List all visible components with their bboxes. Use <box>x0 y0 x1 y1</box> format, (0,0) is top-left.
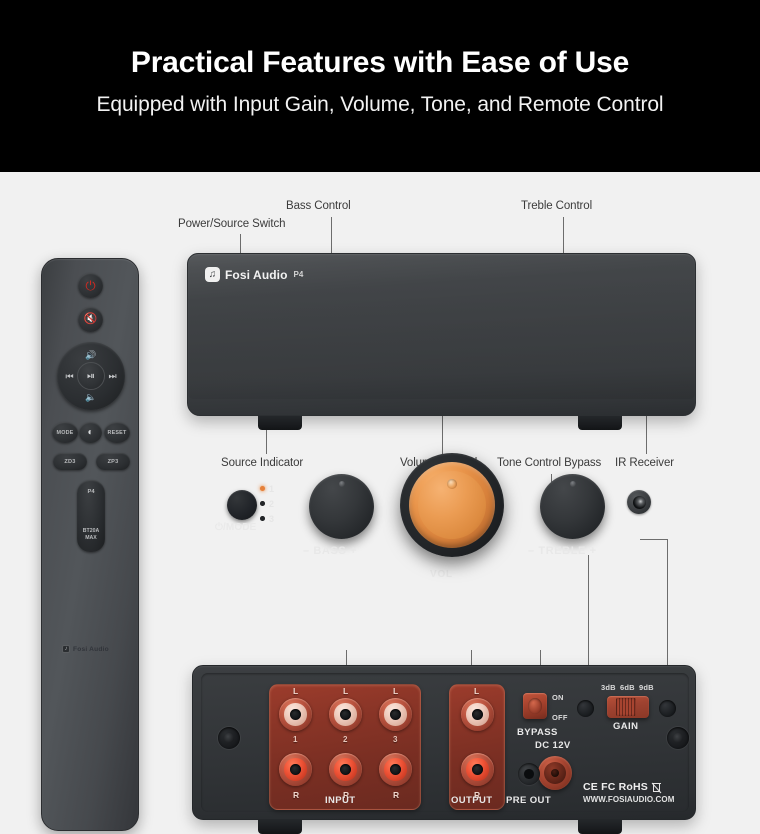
volume-label: VOL <box>430 569 453 580</box>
power-source-button[interactable] <box>227 490 257 520</box>
callout-ir-receiver: IR Receiver <box>615 457 674 469</box>
volume-knob-face <box>418 471 486 539</box>
mute-icon: 🔇 <box>84 314 98 325</box>
source-led-2-label: 2 <box>269 499 274 509</box>
remote-mode-label: MODE <box>57 430 74 436</box>
volume-up-icon[interactable]: 🔊 <box>84 349 98 361</box>
bass-label: – BASS + <box>303 545 357 557</box>
source-led-3 <box>260 516 265 521</box>
input-label: INPUT <box>325 795 356 806</box>
pre-out-label: PRE OUT <box>506 795 551 806</box>
music-note-icon: ♫ <box>205 267 220 282</box>
input-2-left-label: L <box>343 686 349 696</box>
bypass-off-label: OFF <box>552 713 568 722</box>
remote-control-body[interactable]: ⏻ 🔇 🔊 🔈 ⏮ ⏭ ⏯ MODE ◐ RESET ZD3 ZP3 P4 <box>41 258 139 831</box>
input-1-number: 1 <box>293 735 297 744</box>
rca-input-2-right-jack[interactable] <box>329 753 362 786</box>
rca-output-group: L R <box>449 684 505 810</box>
play-pause-icon[interactable]: ⏯ <box>77 362 105 390</box>
next-track-icon[interactable]: ⏭ <box>106 370 119 382</box>
rear-foot-left <box>258 820 302 834</box>
leader-gain-switch <box>667 539 668 679</box>
previous-track-icon[interactable]: ⏮ <box>63 370 76 382</box>
remote-mute-button[interactable]: 🔇 <box>78 307 103 332</box>
tone-bypass-switch[interactable] <box>523 693 547 719</box>
source-indicator-row: 3 <box>260 511 274 526</box>
rca-input-1-right-jack[interactable] <box>279 753 312 786</box>
rca-input-3-left-jack[interactable] <box>379 698 412 731</box>
power-icon: ⏻ <box>85 279 95 292</box>
callout-bass-control: Bass Control <box>286 200 351 212</box>
bass-knob-indicator <box>339 481 345 487</box>
weee-bin-icon <box>652 781 661 793</box>
pre-out-jack[interactable] <box>518 763 540 785</box>
remote-zp3-label: ZP3 <box>108 459 119 465</box>
gain-option-3db: 3dB <box>601 683 616 692</box>
remote-zp3-button[interactable]: ZP3 <box>96 453 130 470</box>
gain-label: GAIN <box>613 721 638 732</box>
bypass-label: BYPASS <box>517 727 558 738</box>
chassis-vent-hole-left <box>577 700 594 717</box>
bypass-on-label: ON <box>552 693 564 702</box>
product-diagram-stage: Power/Source Switch Bass Control Treble … <box>0 172 760 765</box>
rca-output-left-jack[interactable] <box>461 698 494 731</box>
treble-label: – TREBLE + <box>528 545 597 557</box>
callout-tone-control-bypass: Tone Control Bypass <box>497 457 601 469</box>
volume-knob[interactable] <box>400 453 504 557</box>
volume-knob-indicator <box>447 479 457 489</box>
input-1-right-label: R <box>293 790 299 800</box>
remote-zd3-label: ZD3 <box>64 459 75 465</box>
front-foot-left <box>258 416 302 430</box>
remote-reset-button[interactable]: RESET <box>104 422 130 443</box>
remote-zd3-button[interactable]: ZD3 <box>53 453 87 470</box>
rca-input-3-right-jack[interactable] <box>379 753 412 786</box>
gain-option-9db: 9dB <box>639 683 654 692</box>
website-url: WWW.FOSIAUDIO.COM <box>583 795 674 804</box>
source-indicator-group: 1 2 3 <box>260 481 274 526</box>
header-banner: Practical Features with Ease of Use Equi… <box>0 0 760 172</box>
certification-marks: CE FC RoHS <box>583 781 661 793</box>
page-subtitle: Equipped with Input Gain, Volume, Tone, … <box>0 93 760 117</box>
leader-gain-switch-horizontal <box>640 539 668 540</box>
dc-power-input-jack[interactable] <box>538 756 572 790</box>
mounting-screw-right <box>667 727 689 749</box>
callout-source-indicator: Source Indicator <box>221 457 303 469</box>
source-led-3-label: 3 <box>269 514 274 524</box>
volume-down-icon[interactable]: 🔈 <box>84 391 98 403</box>
source-indicator-row: 1 <box>260 481 274 496</box>
volume-knob-ring <box>409 462 495 548</box>
remote-p4-bt20a-button[interactable]: P4 BT20A MAX <box>77 480 105 552</box>
dc-input-label: DC 12V <box>535 740 571 751</box>
weee-cross <box>651 781 662 794</box>
source-led-1-label: 1 <box>269 484 274 494</box>
rca-input-group: L L L 1 <box>269 684 421 810</box>
ir-lens-icon <box>633 496 646 509</box>
output-label: OUTPUT <box>451 795 492 806</box>
remote-bt20a-line2: MAX <box>85 535 97 541</box>
remote-tone-button[interactable]: ◐ <box>79 422 102 443</box>
gain-option-6db: 6dB <box>620 683 635 692</box>
remote-bt20a-line1: BT20A <box>83 528 99 534</box>
rca-output-right-jack[interactable] <box>461 753 494 786</box>
front-brand-logo: ♫ Fosi Audio P4 <box>205 267 303 282</box>
input-3-number: 3 <box>393 735 397 744</box>
gain-slider-handle[interactable] <box>616 698 636 716</box>
treble-knob-indicator <box>570 481 576 487</box>
remote-dpad[interactable]: 🔊 🔈 ⏮ ⏭ ⏯ <box>57 342 125 410</box>
output-left-label: L <box>474 686 480 696</box>
gain-switch[interactable] <box>607 696 649 718</box>
page-title: Practical Features with Ease of Use <box>0 46 760 80</box>
input-3-left-label: L <box>393 686 399 696</box>
remote-p4-label: P4 <box>77 489 105 495</box>
remote-brand-logo: ♪ Fosi Audio <box>62 645 109 653</box>
source-led-1 <box>260 486 265 491</box>
source-indicator-row: 2 <box>260 496 274 511</box>
ir-receiver-port <box>627 490 651 514</box>
rca-input-1-left-jack[interactable] <box>279 698 312 731</box>
input-2-number: 2 <box>343 735 347 744</box>
remote-power-button[interactable]: ⏻ <box>78 273 103 298</box>
amplifier-front-panel: ♫ Fosi Audio P4 <box>187 253 696 416</box>
tone-contrast-icon: ◐ <box>87 428 93 438</box>
front-foot-right <box>578 416 622 430</box>
callout-power-source-switch: Power/Source Switch <box>178 218 285 230</box>
rear-panel-inner: L L L 1 <box>201 673 689 812</box>
front-brand-label: Fosi Audio <box>225 268 288 282</box>
remote-bt20a-label: BT20A MAX <box>77 528 105 541</box>
mounting-screw-left <box>218 727 240 749</box>
rear-foot-right <box>578 820 622 834</box>
power-mode-label: ⏻/MODE <box>215 522 256 533</box>
certs-text: CE FC RoHS <box>583 781 648 793</box>
remote-mode-button[interactable]: MODE <box>52 422 78 443</box>
remote-reset-label: RESET <box>108 430 127 436</box>
callout-treble-control: Treble Control <box>521 200 592 212</box>
amplifier-rear-panel: L L L 1 <box>192 665 696 820</box>
input-1-left-label: L <box>293 686 299 696</box>
rca-input-2-left-jack[interactable] <box>329 698 362 731</box>
chassis-vent-hole-right <box>659 700 676 717</box>
music-note-icon: ♪ <box>62 645 70 653</box>
front-model-label: P4 <box>294 270 304 279</box>
source-led-2 <box>260 501 265 506</box>
treble-knob[interactable] <box>540 474 605 539</box>
input-3-right-label: R <box>393 790 399 800</box>
remote-brand-label: Fosi Audio <box>73 646 109 653</box>
bass-knob[interactable] <box>309 474 374 539</box>
